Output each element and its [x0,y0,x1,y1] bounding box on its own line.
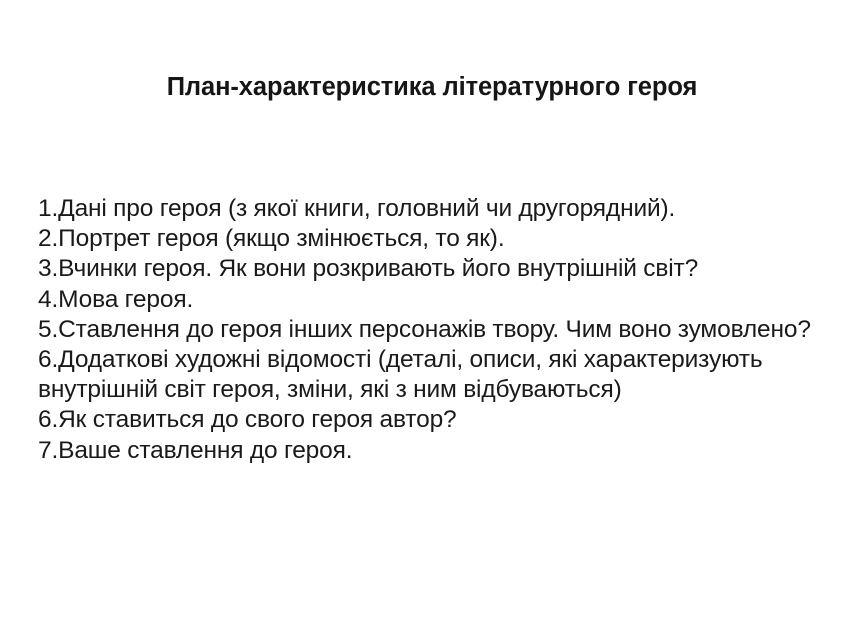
list-item: 6.Додаткові художні відомості (деталі, о… [38,345,856,405]
page-title: План-характеристика літературного героя [0,72,864,102]
list-item: 2.Портрет героя (якщо змінюється, то як)… [38,224,856,254]
list-item: 3.Вчинки героя. Як вони розкривають його… [38,254,856,284]
list-item: 1.Дані про героя (з якої книги, головний… [38,194,856,224]
slide-canvas: План-характеристика літературного героя … [0,0,864,627]
list-item: 5.Ставлення до героя інших персонажів тв… [38,315,856,345]
list-item: 4.Мова героя. [38,285,856,315]
list-item: 6.Як ставиться до свого героя автор? [38,405,856,435]
plan-list: 1.Дані про героя (з якої книги, головний… [38,194,856,466]
list-item: 7.Ваше ставлення до героя. [38,436,856,466]
